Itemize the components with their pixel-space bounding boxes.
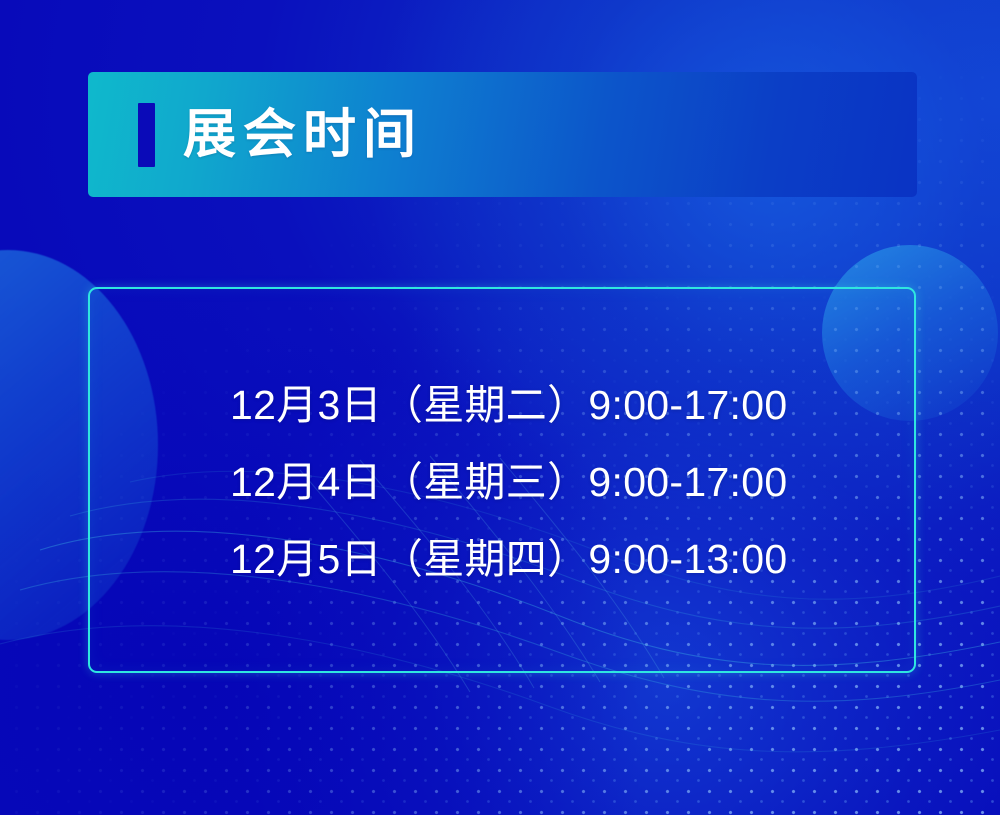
page-title: 展会时间 bbox=[183, 108, 423, 161]
schedule-card: 12月3日（星期二）9:00-17:00 12月4日（星期三）9:00-17:0… bbox=[88, 287, 916, 673]
schedule-list: 12月3日（星期二）9:00-17:00 12月4日（星期三）9:00-17:0… bbox=[90, 385, 914, 580]
schedule-row: 12月5日（星期四）9:00-13:00 bbox=[230, 539, 914, 580]
schedule-row: 12月3日（星期二）9:00-17:00 bbox=[230, 385, 914, 426]
section-header-banner: 展会时间 bbox=[88, 72, 917, 197]
schedule-row: 12月4日（星期三）9:00-17:00 bbox=[230, 462, 914, 503]
accent-bar bbox=[138, 103, 155, 167]
poster-canvas: 展会时间 12月3日（星期二）9:00-17:00 12月4日（星期三）9:00… bbox=[0, 0, 1000, 815]
